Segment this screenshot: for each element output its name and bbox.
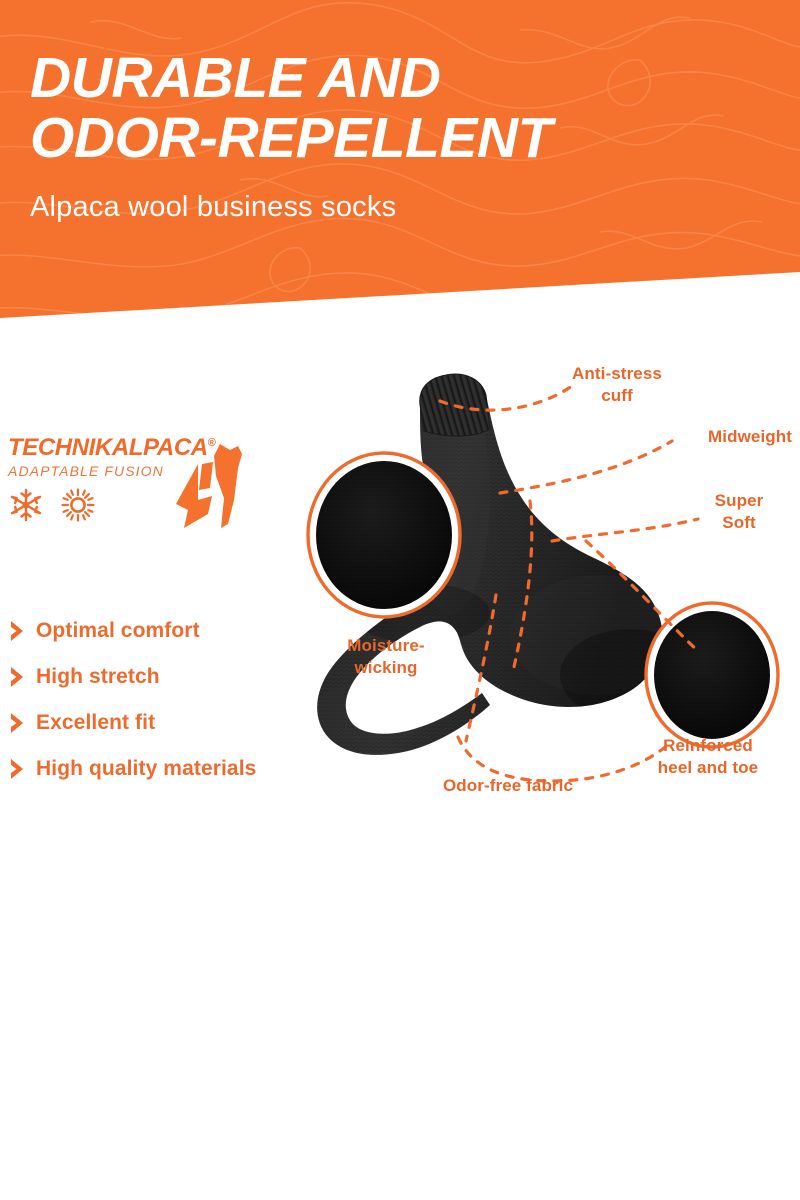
moisture-wicking-detail xyxy=(308,453,460,617)
callout-line: Moisture- xyxy=(336,635,436,657)
reinforced-heel-toe-detail xyxy=(646,603,778,747)
header-subtitle: Alpaca wool business socks xyxy=(30,190,770,224)
list-item: High stretch xyxy=(10,654,330,700)
list-item: Optimal comfort xyxy=(10,608,330,654)
list-item: High quality materials xyxy=(10,746,330,792)
list-item: Excellent fit xyxy=(10,700,330,746)
feature-label: High quality materials xyxy=(36,757,256,781)
callout-line: Odor-free fabric xyxy=(418,775,598,797)
headline-line-2: ODOR-REPELLENT xyxy=(30,108,770,168)
callout-reinforced-heel-and-toe: Reinforced heel and toe xyxy=(638,735,778,779)
callout-line: cuff xyxy=(562,385,672,407)
callout-line: Soft xyxy=(700,512,778,534)
callout-line: heel and toe xyxy=(638,757,778,779)
chevron-right-icon xyxy=(10,666,36,688)
product-diagram: Anti-stress cuff Midweight Super Soft Mo… xyxy=(300,345,800,815)
callout-line: Anti-stress xyxy=(562,363,672,385)
alpaca-mark-icon xyxy=(168,442,246,530)
callout-moisture-wicking: Moisture- wicking xyxy=(336,635,436,679)
hero-header: DURABLE AND ODOR-REPELLENT Alpaca wool b… xyxy=(0,0,800,330)
feature-label: High stretch xyxy=(36,665,160,689)
leader-midweight xyxy=(500,441,672,493)
feature-label: Optimal comfort xyxy=(36,619,200,643)
snowflake-icon xyxy=(8,487,44,523)
feature-list: Optimal comfort High stretch Excellent f… xyxy=(10,608,330,792)
chevron-right-icon xyxy=(10,620,36,642)
header-text-block: DURABLE AND ODOR-REPELLENT Alpaca wool b… xyxy=(30,48,770,224)
brand-logo: TECHNIKALPACA® ADAPTABLE FUSION xyxy=(8,430,258,540)
callout-line: Midweight xyxy=(708,426,800,448)
callout-odor-free-fabric: Odor-free fabric xyxy=(418,775,598,797)
chevron-right-icon xyxy=(10,758,36,780)
callout-line: wicking xyxy=(336,657,436,679)
feature-label: Excellent fit xyxy=(36,711,155,735)
leader-super-soft xyxy=(552,519,698,541)
sun-icon xyxy=(60,487,96,523)
chevron-right-icon xyxy=(10,712,36,734)
callout-line: Super xyxy=(700,490,778,512)
callout-super-soft: Super Soft xyxy=(700,490,778,534)
callout-midweight: Midweight xyxy=(708,426,800,448)
headline-line-1: DURABLE AND xyxy=(30,48,770,108)
callout-line: Reinforced xyxy=(638,735,778,757)
callout-anti-stress-cuff: Anti-stress cuff xyxy=(562,363,672,407)
